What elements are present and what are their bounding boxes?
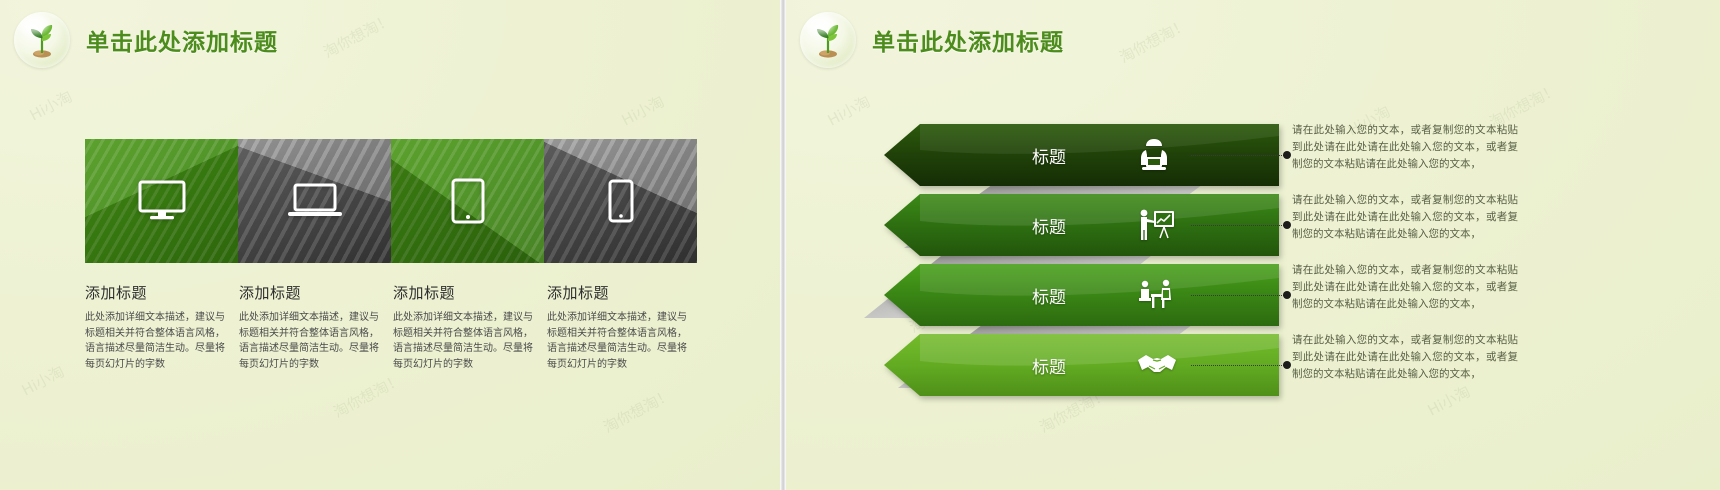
watermark-text: 淘你想淘！ (599, 384, 675, 438)
sprout-seedling-icon (800, 12, 856, 68)
caption-heading: 添加标题 (547, 282, 687, 303)
watermark-text: Hi小淘 (26, 86, 76, 126)
caption-body: 此处添加详细文本描述，建议与标题相关并符合整体语言风格，语言描述尽量简洁生动。尽… (547, 310, 687, 372)
connector-dot-4 (1283, 361, 1291, 369)
laptop-icon (238, 183, 391, 219)
connector-dot-3 (1283, 291, 1291, 299)
caption-body: 此处添加详细文本描述，建议与标题相关并符合整体语言风格，语言描述尽量简洁生动。尽… (85, 310, 225, 372)
desktop-monitor-icon (85, 180, 238, 222)
caption-heading: 添加标题 (85, 282, 225, 303)
page-title: 单击此处添加标题 (872, 23, 1064, 57)
connector-line-3 (1191, 295, 1286, 297)
caption-body: 此处添加详细文本描述，建议与标题相关并符合整体语言风格，语言描述尽量简洁生动。尽… (393, 310, 533, 372)
sprout-seedling-icon (14, 12, 70, 68)
watermark-text: Hi小淘 (618, 91, 668, 131)
caption-heading: 添加标题 (239, 282, 379, 303)
description-text-4: 请在此处输入您的文本，或者复制您的文本粘贴到此处请在此处请在此处输入您的文本，或… (1292, 332, 1518, 383)
photo-strip (85, 139, 697, 263)
watermark-text: 淘你想淘！ (319, 9, 395, 63)
watermark-text: 淘你想淘！ (329, 369, 405, 423)
caption-item[interactable]: 添加标题 此处添加详细文本描述，建议与标题相关并符合整体语言风格，语言描述尽量简… (239, 282, 393, 372)
description-text-3: 请在此处输入您的文本，或者复制您的文本粘贴到此处请在此处请在此处输入您的文本，或… (1292, 262, 1518, 313)
photo-tile-2[interactable] (238, 139, 391, 263)
photo-tile-3[interactable] (391, 139, 544, 263)
connector-dot-1 (1283, 151, 1291, 159)
photo-tile-4[interactable] (544, 139, 697, 263)
slide-left-header: 单击此处添加标题 (14, 12, 278, 68)
caption-item[interactable]: 添加标题 此处添加详细文本描述，建议与标题相关并符合整体语言风格，语言描述尽量简… (85, 282, 239, 372)
caption-heading: 添加标题 (393, 282, 533, 303)
connector-line-1 (1191, 155, 1286, 157)
tablet-icon (391, 178, 544, 224)
caption-list: 添加标题 此处添加详细文本描述，建议与标题相关并符合整体语言风格，语言描述尽量简… (85, 282, 701, 372)
connector-line-2 (1191, 225, 1286, 227)
slide-right-header: 单击此处添加标题 (800, 12, 1064, 68)
arrow-banner-list: 标题 (786, 0, 1720, 490)
watermark-text: Hi小淘 (18, 361, 68, 401)
description-text-2: 请在此处输入您的文本，或者复制您的文本粘贴到此处请在此处请在此处输入您的文本，或… (1292, 192, 1518, 243)
page-title: 单击此处添加标题 (86, 23, 278, 57)
smartphone-icon (544, 179, 697, 223)
caption-item[interactable]: 添加标题 此处添加详细文本描述，建议与标题相关并符合整体语言风格，语言描述尽量简… (393, 282, 547, 372)
caption-item[interactable]: 添加标题 此处添加详细文本描述，建议与标题相关并符合整体语言风格，语言描述尽量简… (547, 282, 701, 372)
photo-tile-1[interactable] (85, 139, 238, 263)
connector-dot-2 (1283, 221, 1291, 229)
caption-body: 此处添加详细文本描述，建议与标题相关并符合整体语言风格，语言描述尽量简洁生动。尽… (239, 310, 379, 372)
description-text-1: 请在此处输入您的文本，或者复制您的文本粘贴到此处请在此处请在此处输入您的文本，或… (1292, 122, 1518, 173)
connector-line-4 (1191, 365, 1286, 367)
presentation-stage: Hi小淘 Hi小淘 淘你想淘！ 淘你想淘！ Hi小淘 淘你想淘！ 单击此处添加标… (0, 0, 1720, 490)
slide-right: Hi小淘 淘你想淘！ 淘你想淘！ 淘你想淘！ Hi小淘 淘你想淘！ Hi小淘 单… (786, 0, 1720, 490)
slide-left: Hi小淘 Hi小淘 淘你想淘！ 淘你想淘！ Hi小淘 淘你想淘！ 单击此处添加标… (0, 0, 780, 490)
